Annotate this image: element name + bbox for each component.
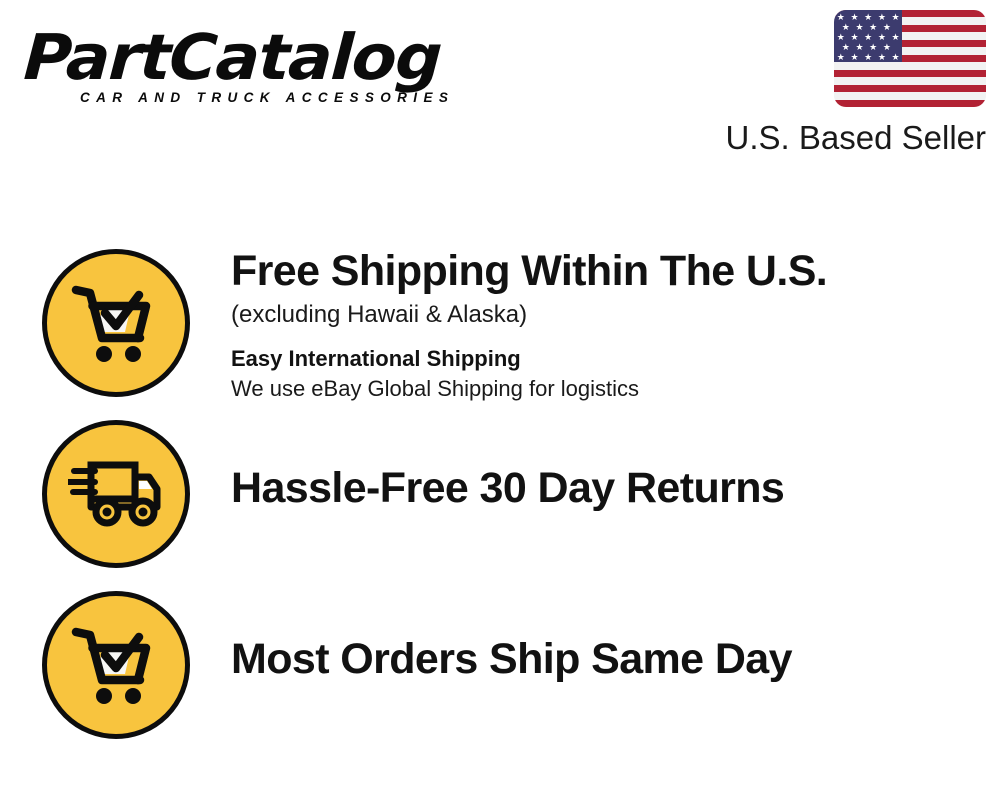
flag-star: ★ bbox=[855, 23, 863, 32]
feature-title: Hassle-Free 30 Day Returns bbox=[231, 466, 784, 511]
brand-logo: PartCatalog CAR AND TRUCK ACCESSORIES bbox=[24, 26, 494, 108]
feature-badge bbox=[42, 591, 190, 739]
brand-tagline: CAR AND TRUCK ACCESSORIES bbox=[80, 90, 494, 105]
flag-stripe bbox=[834, 70, 986, 77]
shopping-cart-check-icon bbox=[70, 282, 162, 364]
flag-star: ★ bbox=[842, 43, 850, 52]
flag-star: ★ bbox=[850, 53, 858, 62]
flag-star: ★ bbox=[892, 13, 900, 22]
fast-delivery-truck-icon bbox=[68, 459, 164, 529]
flag-star: ★ bbox=[878, 13, 886, 22]
feature-row: Most Orders Ship Same Day bbox=[42, 591, 792, 739]
flag-star: ★ bbox=[883, 43, 891, 52]
shopping-cart-check-icon bbox=[70, 624, 162, 706]
feature-row: Hassle-Free 30 Day Returns bbox=[42, 420, 784, 568]
flag-star: ★ bbox=[892, 33, 900, 42]
feature-secondary-heading: Easy International Shipping bbox=[231, 346, 827, 372]
flag-star: ★ bbox=[869, 43, 877, 52]
flag-star: ★ bbox=[883, 23, 891, 32]
flag-star: ★ bbox=[842, 23, 850, 32]
feature-title: Free Shipping Within The U.S. bbox=[231, 249, 827, 294]
feature-text: Hassle-Free 30 Day Returns bbox=[231, 420, 784, 511]
flag-star: ★ bbox=[864, 33, 872, 42]
feature-subtitle: (excluding Hawaii & Alaska) bbox=[231, 301, 827, 329]
us-based-seller-label: U.S. Based Seller bbox=[714, 119, 986, 157]
flag-star: ★ bbox=[837, 53, 845, 62]
flag-star: ★ bbox=[878, 53, 886, 62]
flag-star: ★ bbox=[855, 43, 863, 52]
flag-star: ★ bbox=[864, 13, 872, 22]
flag-star: ★ bbox=[869, 23, 877, 32]
flag-stripe bbox=[834, 100, 986, 107]
feature-title: Most Orders Ship Same Day bbox=[231, 637, 792, 682]
flag-star: ★ bbox=[850, 33, 858, 42]
flag-star: ★ bbox=[837, 13, 845, 22]
flag-stripe bbox=[834, 77, 986, 84]
flag-star: ★ bbox=[850, 13, 858, 22]
flag-star: ★ bbox=[892, 53, 900, 62]
flag-star: ★ bbox=[864, 53, 872, 62]
flag-stars: ★ ★ ★ ★ ★ ★ ★ ★ ★ ★ ★ ★ ★ ★ ★ ★ ★ ★ ★ ★ … bbox=[834, 10, 902, 62]
flag-star: ★ bbox=[878, 33, 886, 42]
brand-wordmark: PartCatalog bbox=[22, 26, 514, 89]
feature-row: Free Shipping Within The U.S. (excluding… bbox=[42, 249, 827, 402]
flag-star: ★ bbox=[837, 33, 845, 42]
feature-text: Free Shipping Within The U.S. (excluding… bbox=[231, 249, 827, 402]
feature-badge bbox=[42, 249, 190, 397]
us-based-seller-badge: ★ ★ ★ ★ ★ ★ ★ ★ ★ ★ ★ ★ ★ ★ ★ ★ ★ ★ ★ ★ … bbox=[714, 10, 986, 157]
feature-text: Most Orders Ship Same Day bbox=[231, 591, 792, 682]
feature-secondary-text: We use eBay Global Shipping for logistic… bbox=[231, 376, 827, 402]
flag-stripe bbox=[834, 62, 986, 69]
us-flag-icon: ★ ★ ★ ★ ★ ★ ★ ★ ★ ★ ★ ★ ★ ★ ★ ★ ★ ★ ★ ★ … bbox=[834, 10, 986, 107]
feature-badge bbox=[42, 420, 190, 568]
flag-stripe bbox=[834, 85, 986, 92]
flag-stripe bbox=[834, 92, 986, 99]
